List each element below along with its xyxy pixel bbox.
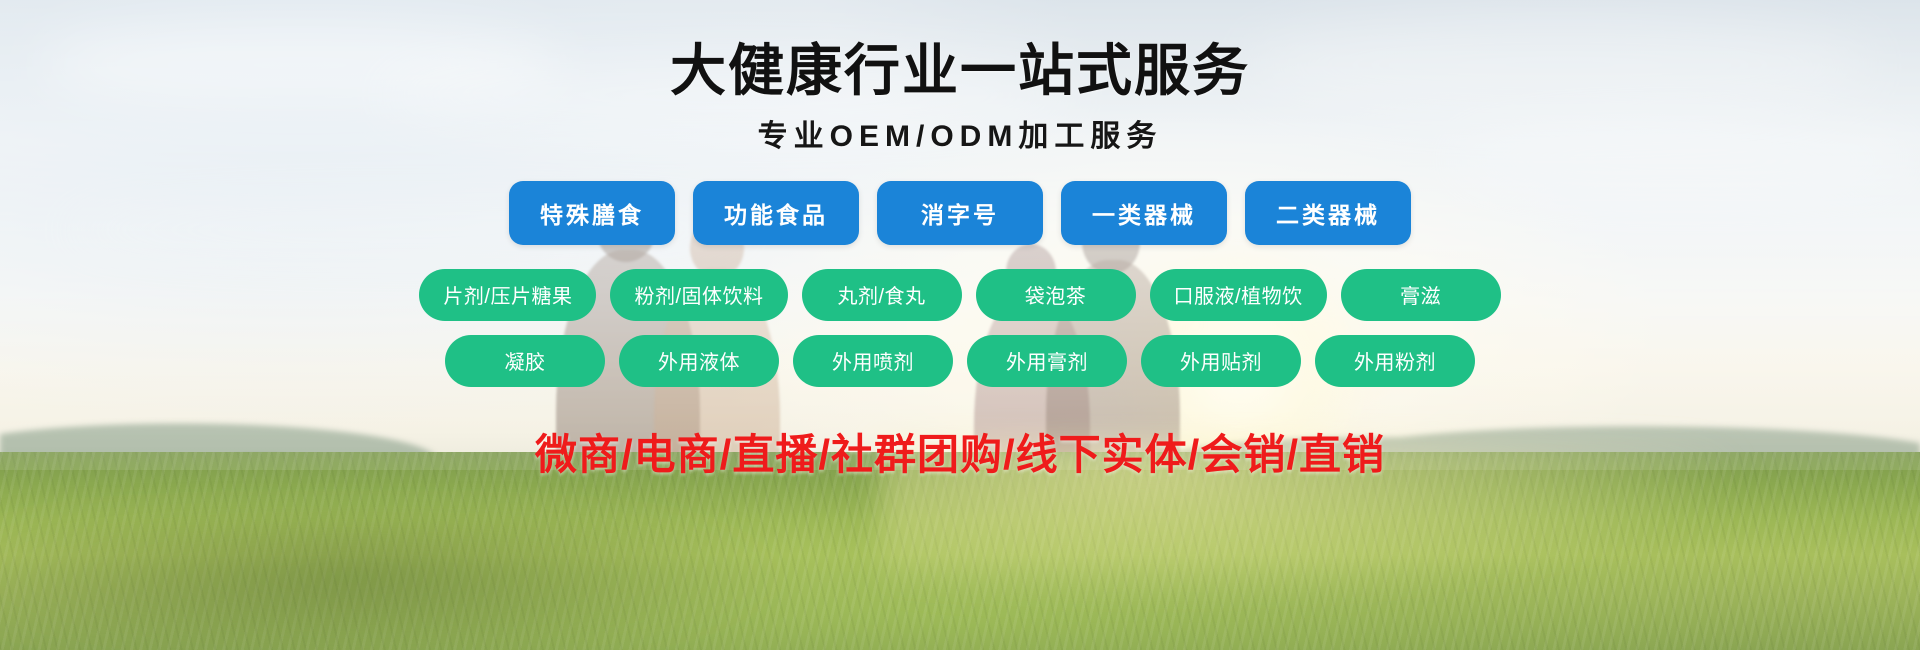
form-pill-gel[interactable]: 凝胶 bbox=[445, 335, 605, 387]
promo-banner: 大健康行业一站式服务 专业OEM/ODM加工服务 特殊膳食 功能食品 消字号 一… bbox=[0, 0, 1920, 650]
form-pill-tea-bag[interactable]: 袋泡茶 bbox=[976, 269, 1136, 321]
form-pill-topical-spray[interactable]: 外用喷剂 bbox=[793, 335, 953, 387]
page-title: 大健康行业一站式服务 bbox=[670, 40, 1250, 103]
form-pill-pill-food-ball[interactable]: 丸剂/食丸 bbox=[802, 269, 962, 321]
form-pill-tablet-candy[interactable]: 片剂/压片糖果 bbox=[419, 269, 596, 321]
form-pill-row-1: 片剂/压片糖果 粉剂/固体饮料 丸剂/食丸 袋泡茶 口服液/植物饮 膏滋 bbox=[419, 269, 1500, 321]
form-pill-powder-solid-drink[interactable]: 粉剂/固体饮料 bbox=[610, 269, 787, 321]
category-pill-special-diet[interactable]: 特殊膳食 bbox=[509, 181, 675, 245]
category-pill-class-two-device[interactable]: 二类器械 bbox=[1245, 181, 1411, 245]
banner-content: 大健康行业一站式服务 专业OEM/ODM加工服务 特殊膳食 功能食品 消字号 一… bbox=[0, 0, 1920, 650]
form-pill-topical-ointment[interactable]: 外用膏剂 bbox=[967, 335, 1127, 387]
form-pill-row-2: 凝胶 外用液体 外用喷剂 外用膏剂 外用贴剂 外用粉剂 bbox=[445, 335, 1475, 387]
category-pill-class-one-device[interactable]: 一类器械 bbox=[1061, 181, 1227, 245]
form-pill-topical-patch[interactable]: 外用贴剂 bbox=[1141, 335, 1301, 387]
page-subtitle: 专业OEM/ODM加工服务 bbox=[758, 111, 1163, 155]
form-pill-topical-liquid[interactable]: 外用液体 bbox=[619, 335, 779, 387]
form-pill-oral-liquid-plant-drink[interactable]: 口服液/植物饮 bbox=[1150, 269, 1327, 321]
form-pill-topical-powder[interactable]: 外用粉剂 bbox=[1315, 335, 1475, 387]
category-pill-functional-food[interactable]: 功能食品 bbox=[693, 181, 859, 245]
form-pill-paste[interactable]: 膏滋 bbox=[1341, 269, 1501, 321]
sales-channels-text: 微商/电商/直播/社群团购/线下实体/会销/直销 bbox=[535, 421, 1385, 482]
category-pill-disinfection-license[interactable]: 消字号 bbox=[877, 181, 1043, 245]
category-pill-row: 特殊膳食 功能食品 消字号 一类器械 二类器械 bbox=[509, 181, 1411, 245]
